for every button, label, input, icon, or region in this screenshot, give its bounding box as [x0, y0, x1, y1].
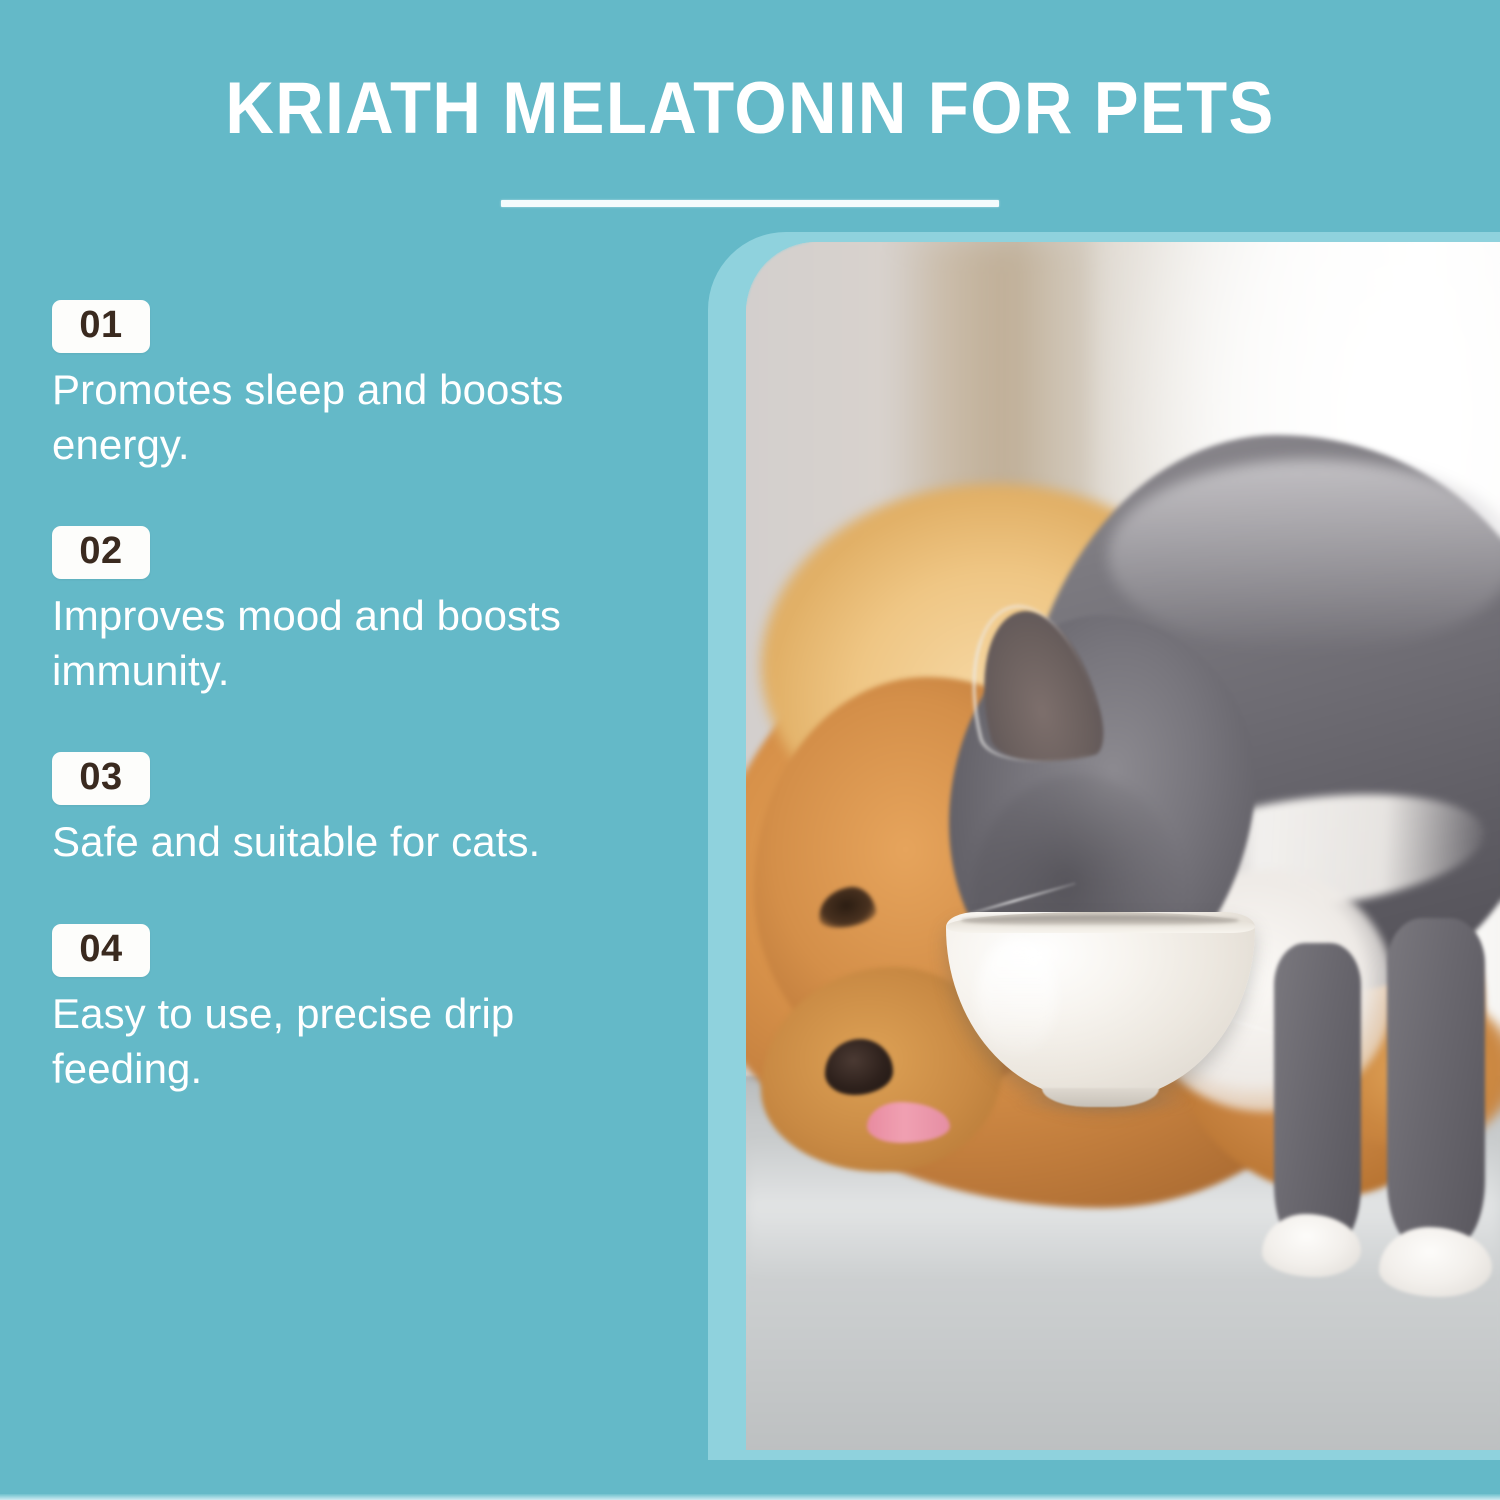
title-underline [501, 200, 999, 207]
feature-number-badge: 03 [52, 752, 150, 805]
feature-list: 01 Promotes sleep and boosts energy. 02 … [52, 300, 662, 1096]
dog-nose [825, 1039, 893, 1095]
feature-item-04: 04 Easy to use, precise drip feeding. [52, 924, 662, 1096]
feature-text: Improves mood and boosts immunity. [52, 589, 632, 698]
feature-item-01: 01 Promotes sleep and boosts energy. [52, 300, 662, 472]
product-feature-poster: KRIATH MELATONIN FOR PETS 01 Promotes sl… [0, 0, 1500, 1500]
bowl-highlight [977, 939, 1057, 1055]
feature-number-badge: 01 [52, 300, 150, 353]
feature-text: Safe and suitable for cats. [52, 815, 632, 870]
header: KRIATH MELATONIN FOR PETS [0, 72, 1500, 207]
photo-scene [746, 242, 1500, 1450]
ceramic-bowl [946, 912, 1255, 1099]
cat-back-highlight [1108, 459, 1500, 652]
bottom-edge-strip [0, 1494, 1500, 1500]
feature-item-03: 03 Safe and suitable for cats. [52, 752, 662, 870]
cat-rear-leg [1387, 918, 1485, 1244]
pet-photo [746, 242, 1500, 1450]
photo-panel [708, 232, 1500, 1460]
feature-number-badge: 04 [52, 924, 150, 977]
feature-text: Promotes sleep and boosts energy. [52, 363, 632, 472]
feature-item-02: 02 Improves mood and boosts immunity. [52, 526, 662, 698]
feature-text: Easy to use, precise drip feeding. [52, 987, 632, 1096]
page-title: KRIATH MELATONIN FOR PETS [60, 72, 1440, 146]
cat-front-leg [1274, 943, 1361, 1245]
feature-number-badge: 02 [52, 526, 150, 579]
